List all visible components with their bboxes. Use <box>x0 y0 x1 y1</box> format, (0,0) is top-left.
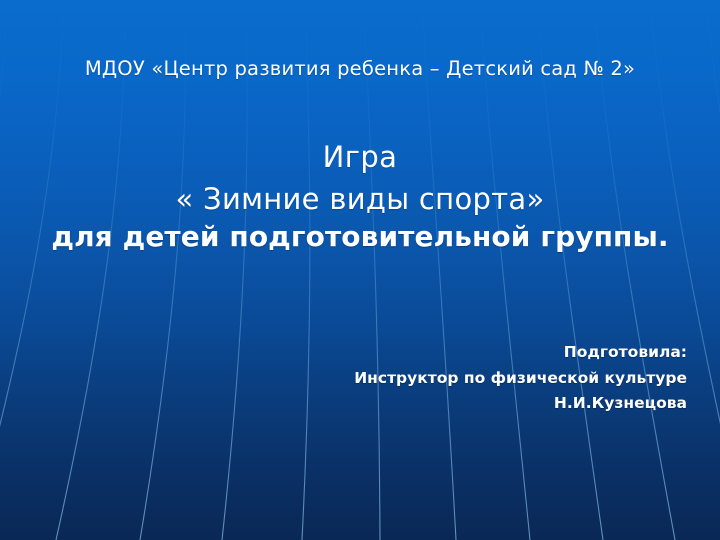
slide-author-block: Подготовила: Инструктор по физической ку… <box>354 340 687 417</box>
meridian-arcs <box>0 0 720 540</box>
author-role: Инструктор по физической культуре <box>354 366 687 392</box>
slide-title-block: Игра « Зимние виды спорта» для детей под… <box>0 136 720 254</box>
title-line-game: Игра <box>0 136 720 178</box>
presentation-slide: МДОУ «Центр развития ребенка – Детский с… <box>0 0 720 540</box>
title-line-audience: для детей подготовительной группы. <box>0 220 720 254</box>
slide-header-institution: МДОУ «Центр развития ребенка – Детский с… <box>0 57 720 80</box>
author-label: Подготовила: <box>354 340 687 366</box>
title-line-topic: « Зимние виды спорта» <box>0 178 720 220</box>
background-pattern-decoration <box>0 0 720 540</box>
author-name: Н.И.Кузнецова <box>354 391 687 417</box>
